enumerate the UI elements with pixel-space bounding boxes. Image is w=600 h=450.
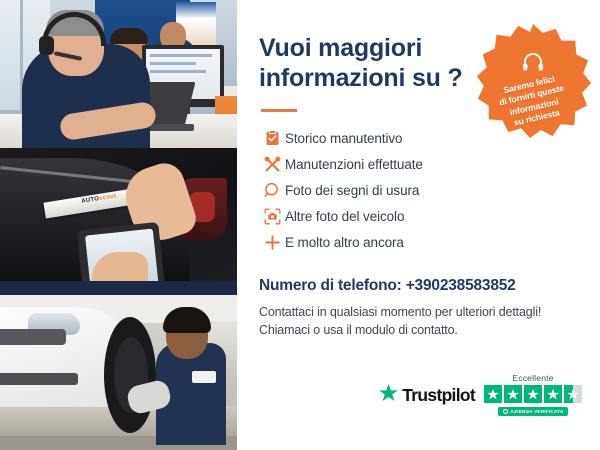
trustpilot-wordmark: Trustpilot [402,385,475,406]
promo-banner: AUTOscout Vuoi [0,0,600,450]
feature-label: Manutenzioni effettuate [285,157,423,172]
headline-line-1: Vuoi maggiori [259,34,422,62]
star-half [564,385,582,403]
screen-row [150,70,206,73]
trustpilot-stars [484,385,582,403]
subtext-line-1: Contattaci in qualsiasi momento per ulte… [259,305,541,319]
list-item: Manutenzioni effettuate [259,151,578,177]
magnifier-icon [259,182,285,199]
verified-check-icon [503,409,508,414]
star-filled [524,385,542,403]
feature-list: Storico manutentivo Manutenzioni effettu… [259,125,578,255]
uniform-logo-patch [192,371,216,383]
photo-column: AUTOscout [0,0,237,450]
feature-label: Altre foto del veicolo [285,209,404,224]
feature-label: Storico manutentivo [285,131,402,146]
star-filled [484,385,502,403]
trustpilot-logo: Trustpilot [379,384,475,416]
content-panel: Vuoi maggiori informazioni su ? Storico … [237,0,600,450]
verified-label: AZIENDA VERIFICATA [511,409,564,414]
contact-subtext: Contattaci in qualsiasi momento per ulte… [259,303,578,339]
status-badge: AZIENDA VERIFICATA [498,407,569,416]
car-lower-grille [0,373,78,385]
car-upper-grille [0,329,66,345]
title-underline-rule [261,109,297,112]
phone-label: Numero di telefono: [259,277,402,294]
info-request-badge: Saremo felici di fornirti queste informa… [474,22,592,140]
phone-line: Numero di telefono: +390238583852 [259,277,578,295]
list-item: E molto altro ancora [259,229,578,255]
trustpilot-rating-label: Eccellente [512,373,553,383]
badge-text: Saremo felici di fornirti queste informa… [496,72,571,131]
subtext-line-2: Chiamaci o usa il modulo di contatto. [259,323,458,337]
clipboard-check-icon [259,130,285,146]
plus-icon [259,234,285,251]
headline-line-2: informazioni su ? [259,64,463,92]
trustpilot-rating-block: Eccellente [484,373,582,416]
crossed-tools-icon [259,156,285,173]
screen-row [150,62,196,65]
trustpilot-widget[interactable]: Trustpilot Eccellente [379,373,582,416]
trustpilot-star-icon [379,384,398,407]
photo-mechanic-inspecting-car-wheel [0,295,237,450]
headset-icon [522,52,544,77]
list-item: Foto dei segni di usura [259,177,578,203]
screen-row [150,54,212,57]
phone-number[interactable]: +390238583852 [406,277,516,294]
photo-vehicle-inspection-with-ruler-and-tablet: AUTOscout [0,148,237,295]
star-filled [544,385,562,403]
list-item: Altre foto del veicolo [259,203,578,229]
feature-label: E molto altro ancora [285,235,404,250]
star-filled [504,385,522,403]
camera-frame-icon [259,208,285,225]
headset-earcup [39,36,54,55]
photo-bottom-band [0,281,237,295]
badge-content: Saremo felici di fornirti queste informa… [474,22,592,140]
photo-call-center-agents-with-headsets [0,0,237,148]
background-worker-2-hair [110,28,148,44]
feature-label: Foto dei segni di usura [285,183,419,198]
